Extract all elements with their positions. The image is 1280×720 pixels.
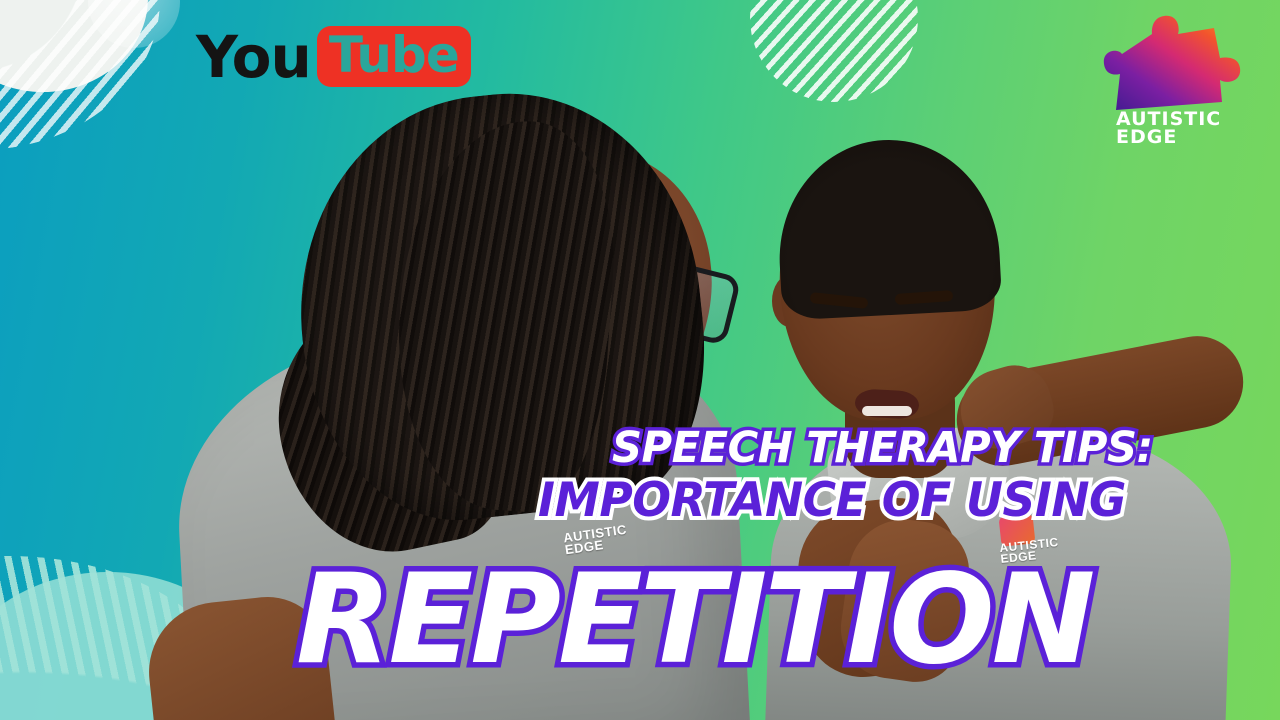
- title-line-two: IMPORTANCE OF USING: [538, 473, 1126, 528]
- title-line-one: SPEECH THERAPY TIPS:: [612, 423, 1153, 473]
- title-headline: REPETITION: [296, 548, 1092, 692]
- thumbnail-canvas: AUTISTIC EDGE AUTISTIC EDGE You Tube: [0, 0, 1280, 720]
- title-overlay: SPEECH THERAPY TIPS: IMPORTANCE OF USING…: [0, 0, 1280, 720]
